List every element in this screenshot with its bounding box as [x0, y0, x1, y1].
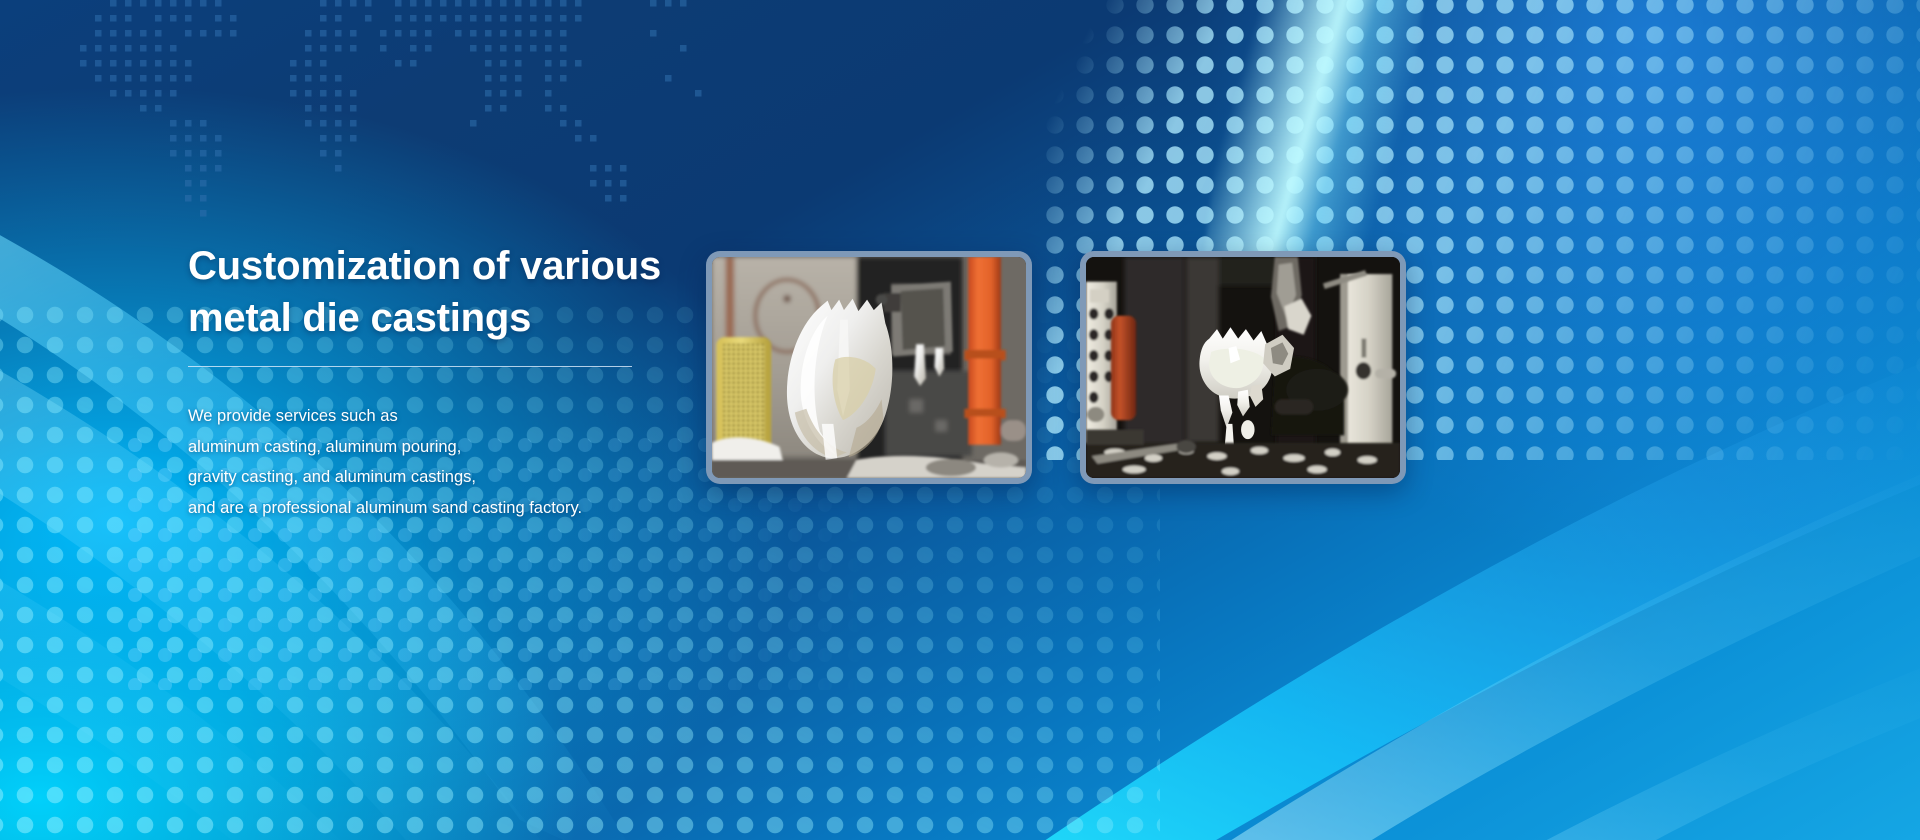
description-line-4: and are a professional aluminum sand cas… — [188, 493, 708, 524]
headline-line-2: metal die castings — [188, 296, 531, 340]
title-divider — [188, 366, 632, 367]
page-title: Customization of various metal die casti… — [188, 240, 708, 344]
description-line-2: aluminum casting, aluminum pouring, — [188, 432, 708, 463]
headline-line-1: Customization of various — [188, 244, 661, 288]
die-casting-machine-photo[interactable] — [1080, 251, 1406, 484]
photo-2-image — [1086, 257, 1400, 478]
hero-banner: Customization of various metal die casti… — [0, 0, 1920, 840]
hero-description: We provide services such as aluminum cas… — [188, 401, 708, 523]
hero-text-block: Customization of various metal die casti… — [188, 240, 708, 523]
description-line-1: We provide services such as — [188, 401, 708, 432]
photo-1-image — [712, 257, 1026, 478]
aluminum-casting-pour-photo[interactable] — [706, 251, 1032, 484]
description-line-3: gravity casting, and aluminum castings, — [188, 462, 708, 493]
world-map-dots — [40, 0, 1100, 240]
